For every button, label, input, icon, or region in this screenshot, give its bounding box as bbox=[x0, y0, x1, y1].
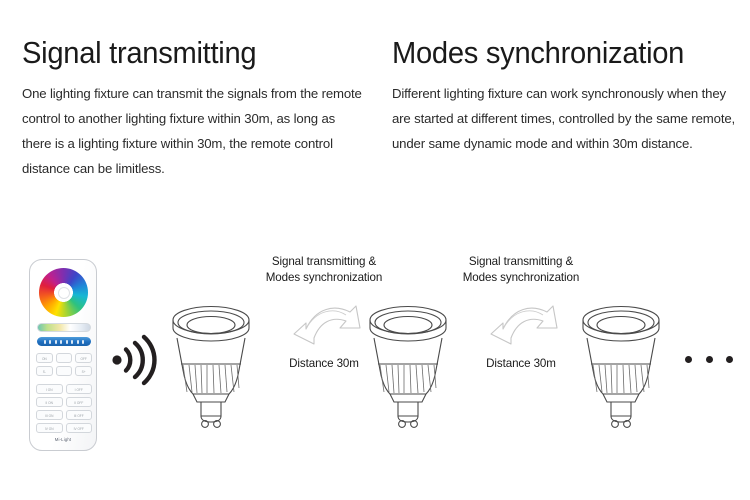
link-caption-2: Signal transmitting & Modes synchronizat… bbox=[447, 254, 595, 286]
ellipsis-dot bbox=[685, 356, 692, 363]
remote-zone-button-grid: I ON I OFF II ON II OFF III ON III OFF I… bbox=[36, 384, 92, 433]
gu10-led-spotlight-2 bbox=[360, 298, 456, 434]
remote-button-pause[interactable] bbox=[56, 366, 73, 376]
remote-zone2-off[interactable]: II OFF bbox=[66, 397, 93, 407]
gu10-led-spotlight-1 bbox=[163, 298, 259, 434]
double-headed-curved-arrow-2 bbox=[479, 298, 563, 350]
zone-segment bbox=[60, 340, 62, 344]
color-wheel-center bbox=[58, 287, 70, 299]
remote-zone3-on[interactable]: III ON bbox=[36, 410, 63, 420]
white-brightness-slider[interactable] bbox=[37, 323, 91, 332]
continuation-ellipsis bbox=[685, 356, 733, 363]
remote-button-on[interactable]: ON bbox=[36, 353, 53, 363]
remote-zone1-on[interactable]: I ON bbox=[36, 384, 63, 394]
system-diagram: ON OFF S- S+ I ON I OFF II ON II OFF III… bbox=[0, 0, 750, 500]
ellipsis-dot bbox=[706, 356, 713, 363]
link-caption-1: Signal transmitting & Modes synchronizat… bbox=[250, 254, 398, 286]
zone-segment bbox=[77, 340, 79, 344]
zone-segment bbox=[44, 340, 46, 344]
zone-selector-bar[interactable] bbox=[37, 337, 91, 346]
remote-button-speed-down[interactable]: S- bbox=[36, 366, 53, 376]
remote-button-speed-up[interactable]: S+ bbox=[75, 366, 92, 376]
zone-segment bbox=[66, 340, 68, 344]
double-headed-curved-arrow-1 bbox=[282, 298, 366, 350]
remote-brand-label: Mi-Light bbox=[30, 437, 96, 442]
zone-segment bbox=[55, 340, 57, 344]
remote-zone1-off[interactable]: I OFF bbox=[66, 384, 93, 394]
remote-zone4-off[interactable]: IV OFF bbox=[66, 423, 93, 433]
zone-segment bbox=[49, 340, 51, 344]
zone-segment bbox=[71, 340, 73, 344]
zone-segment bbox=[82, 340, 84, 344]
remote-control: ON OFF S- S+ I ON I OFF II ON II OFF III… bbox=[29, 259, 97, 451]
ellipsis-dot bbox=[726, 356, 733, 363]
remote-zone4-on[interactable]: IV ON bbox=[36, 423, 63, 433]
wifi-waves-icon bbox=[108, 333, 162, 387]
color-wheel-icon[interactable] bbox=[39, 268, 88, 317]
gu10-led-spotlight-3 bbox=[573, 298, 669, 434]
remote-zone2-on[interactable]: II ON bbox=[36, 397, 63, 407]
remote-zone3-off[interactable]: III OFF bbox=[66, 410, 93, 420]
remote-top-button-grid: ON OFF S- S+ bbox=[36, 353, 92, 376]
remote-button-mode[interactable] bbox=[56, 353, 73, 363]
remote-button-off[interactable]: OFF bbox=[75, 353, 92, 363]
